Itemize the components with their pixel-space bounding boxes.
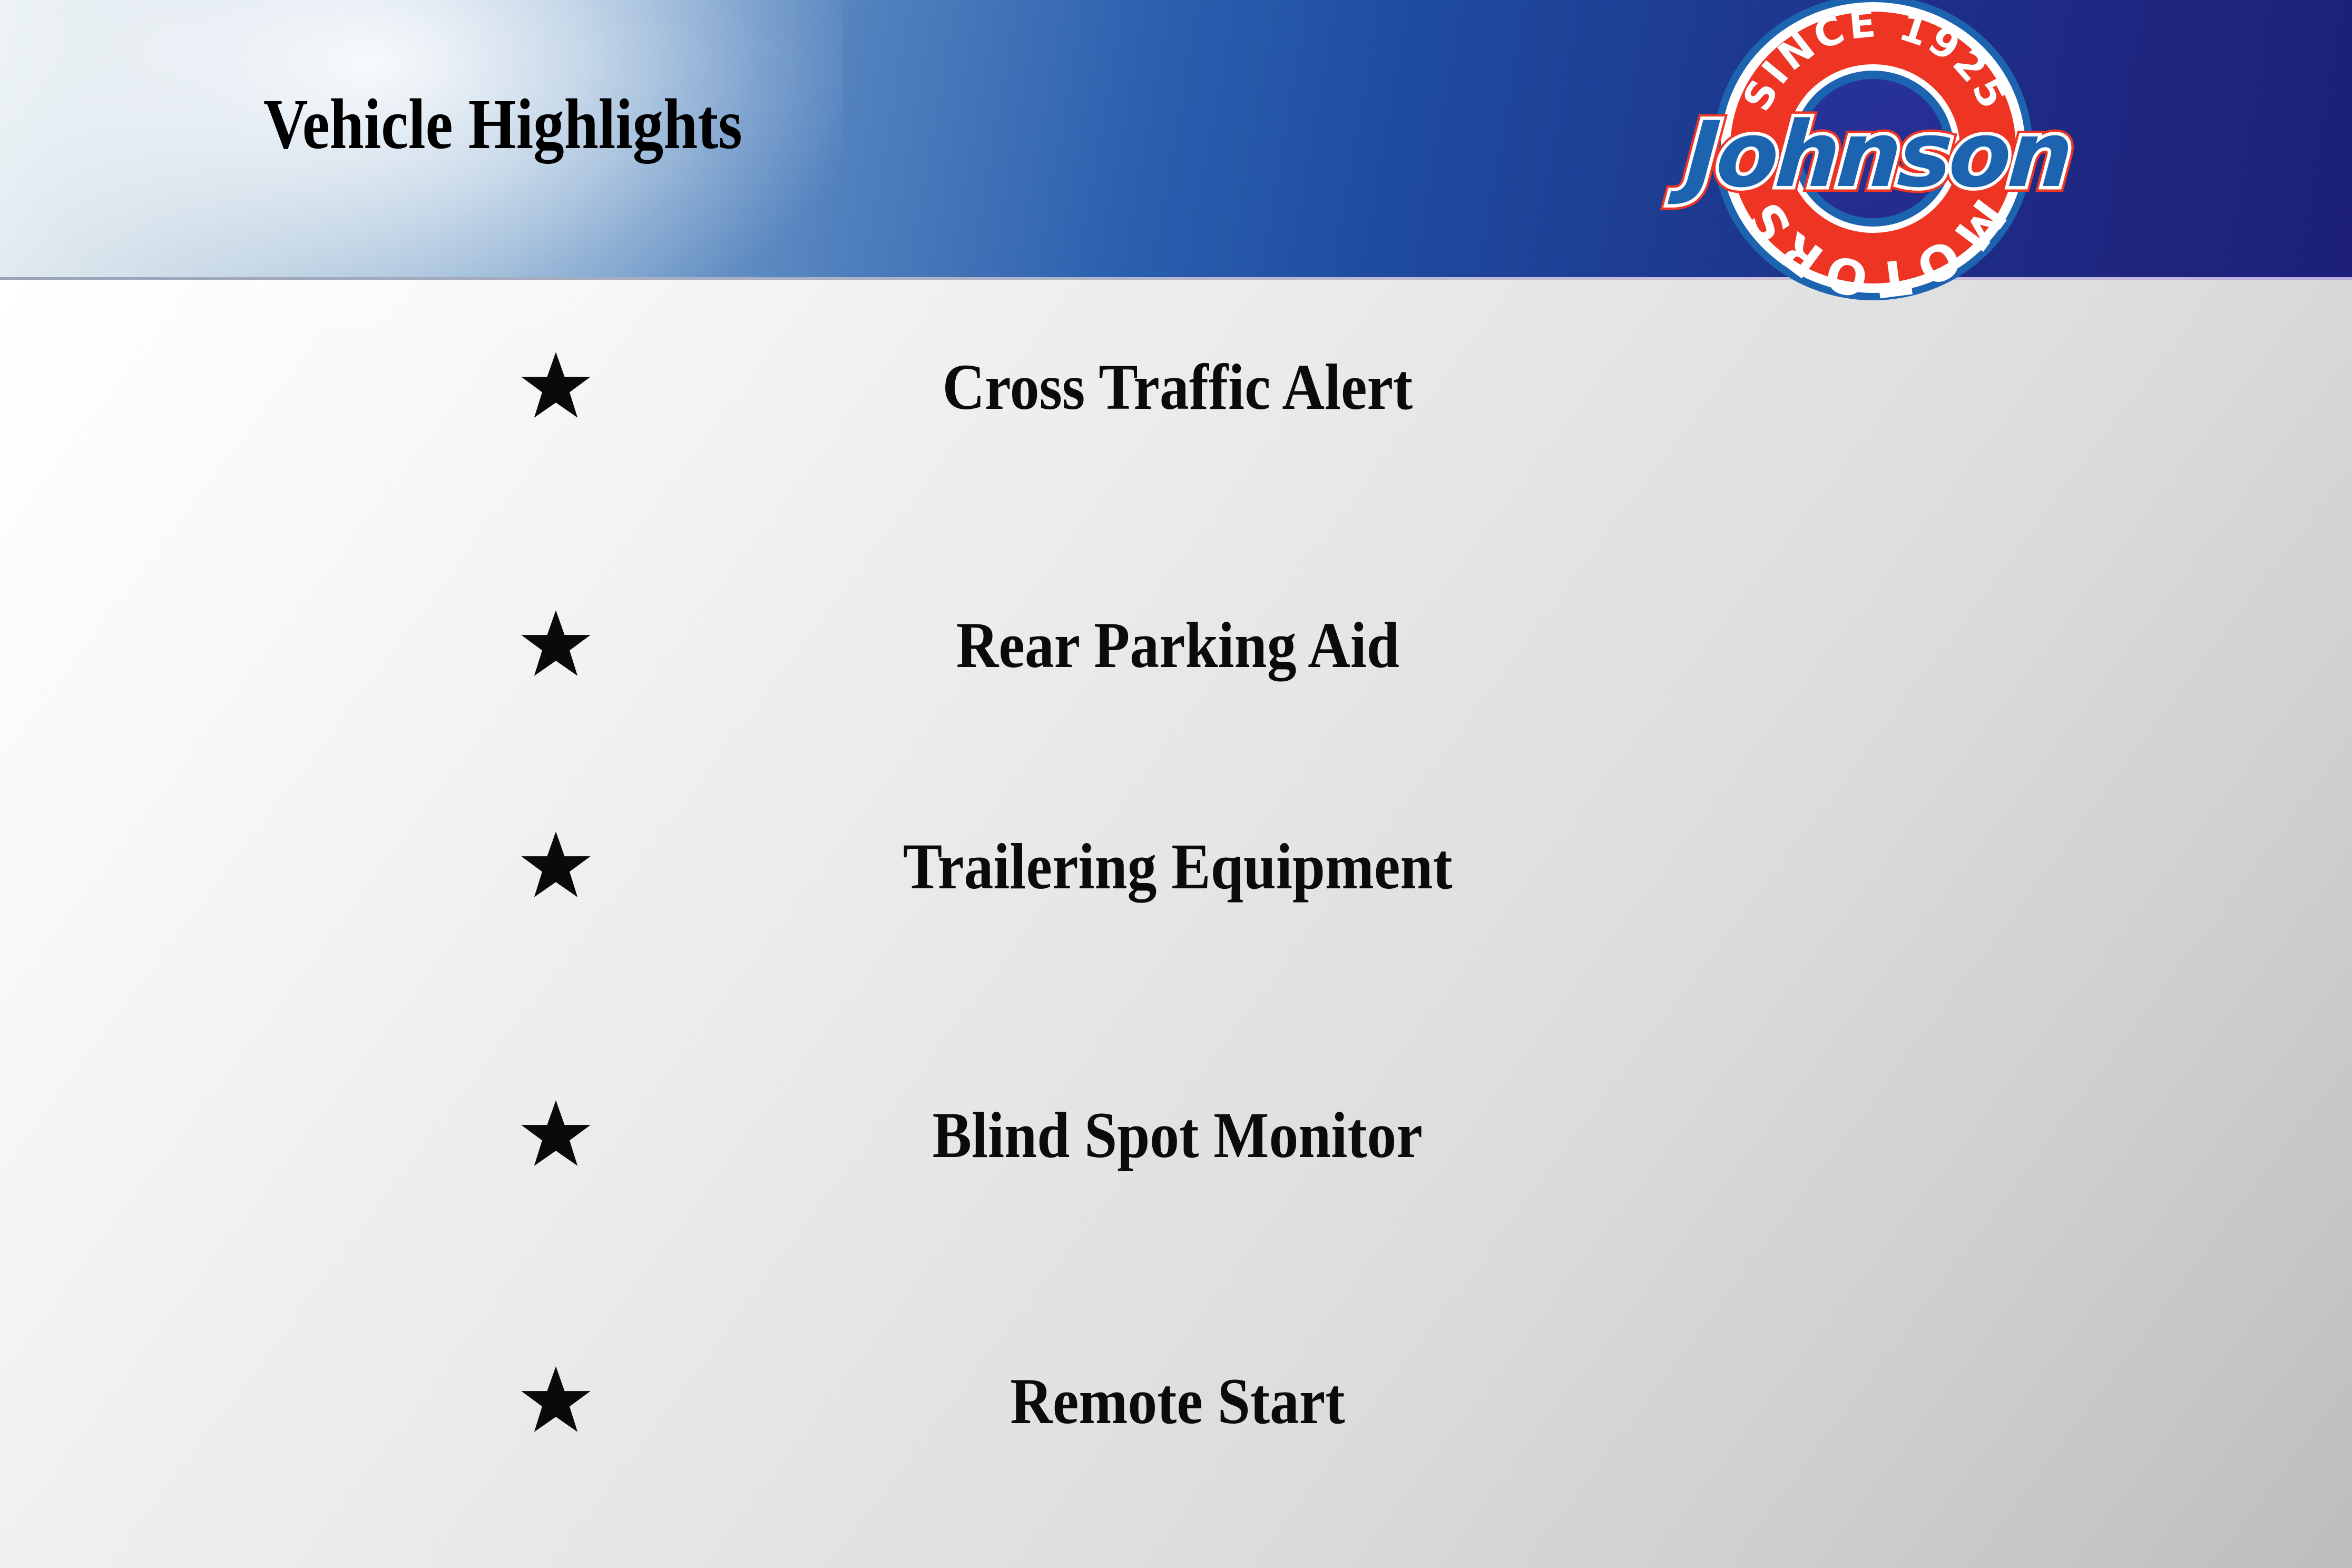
list-item-label: Blind Spot Monitor (624, 1085, 1731, 1185)
page-title: Vehicle Highlights (263, 89, 742, 160)
list-item-text: Cross Traffic Alert (943, 355, 1413, 420)
list-item-text: Blind Spot Monitor (933, 1103, 1423, 1168)
list-item: Trailering Equipment (0, 817, 2352, 917)
vehicle-highlights-list: Cross Traffic Alert Rear Parking Aid Tra… (0, 279, 2352, 1568)
logo-wordmark-johnson: Johnson (1682, 102, 2069, 208)
list-item-label: Remote Start (624, 1351, 1731, 1452)
list-item: Cross Traffic Alert (0, 337, 2352, 437)
list-item: Rear Parking Aid (0, 595, 2352, 695)
star-icon (519, 1098, 593, 1172)
list-item-text: Trailering Equipment (903, 834, 1453, 899)
list-item-label: Rear Parking Aid (624, 595, 1731, 695)
slide: Vehicle Highlights SINCE 1925 SINCE 1925… (0, 0, 2352, 1568)
list-item-label: Trailering Equipment (624, 817, 1731, 917)
list-item-text: Remote Start (1010, 1369, 1345, 1434)
list-item: Blind Spot Monitor (0, 1085, 2352, 1185)
star-icon (519, 1364, 593, 1438)
list-item-label: Cross Traffic Alert (624, 337, 1731, 437)
johnson-motors-logo: SINCE 1925 SINCE 1925 MOTORS MOTORS John… (1675, 0, 2076, 312)
list-item-text: Rear Parking Aid (956, 613, 1399, 678)
star-icon (519, 350, 593, 424)
list-item: Remote Start (0, 1351, 2352, 1452)
logo-since-text: SINCE 1925 (1734, 1, 2017, 119)
star-icon (519, 829, 593, 903)
star-icon (519, 608, 593, 682)
